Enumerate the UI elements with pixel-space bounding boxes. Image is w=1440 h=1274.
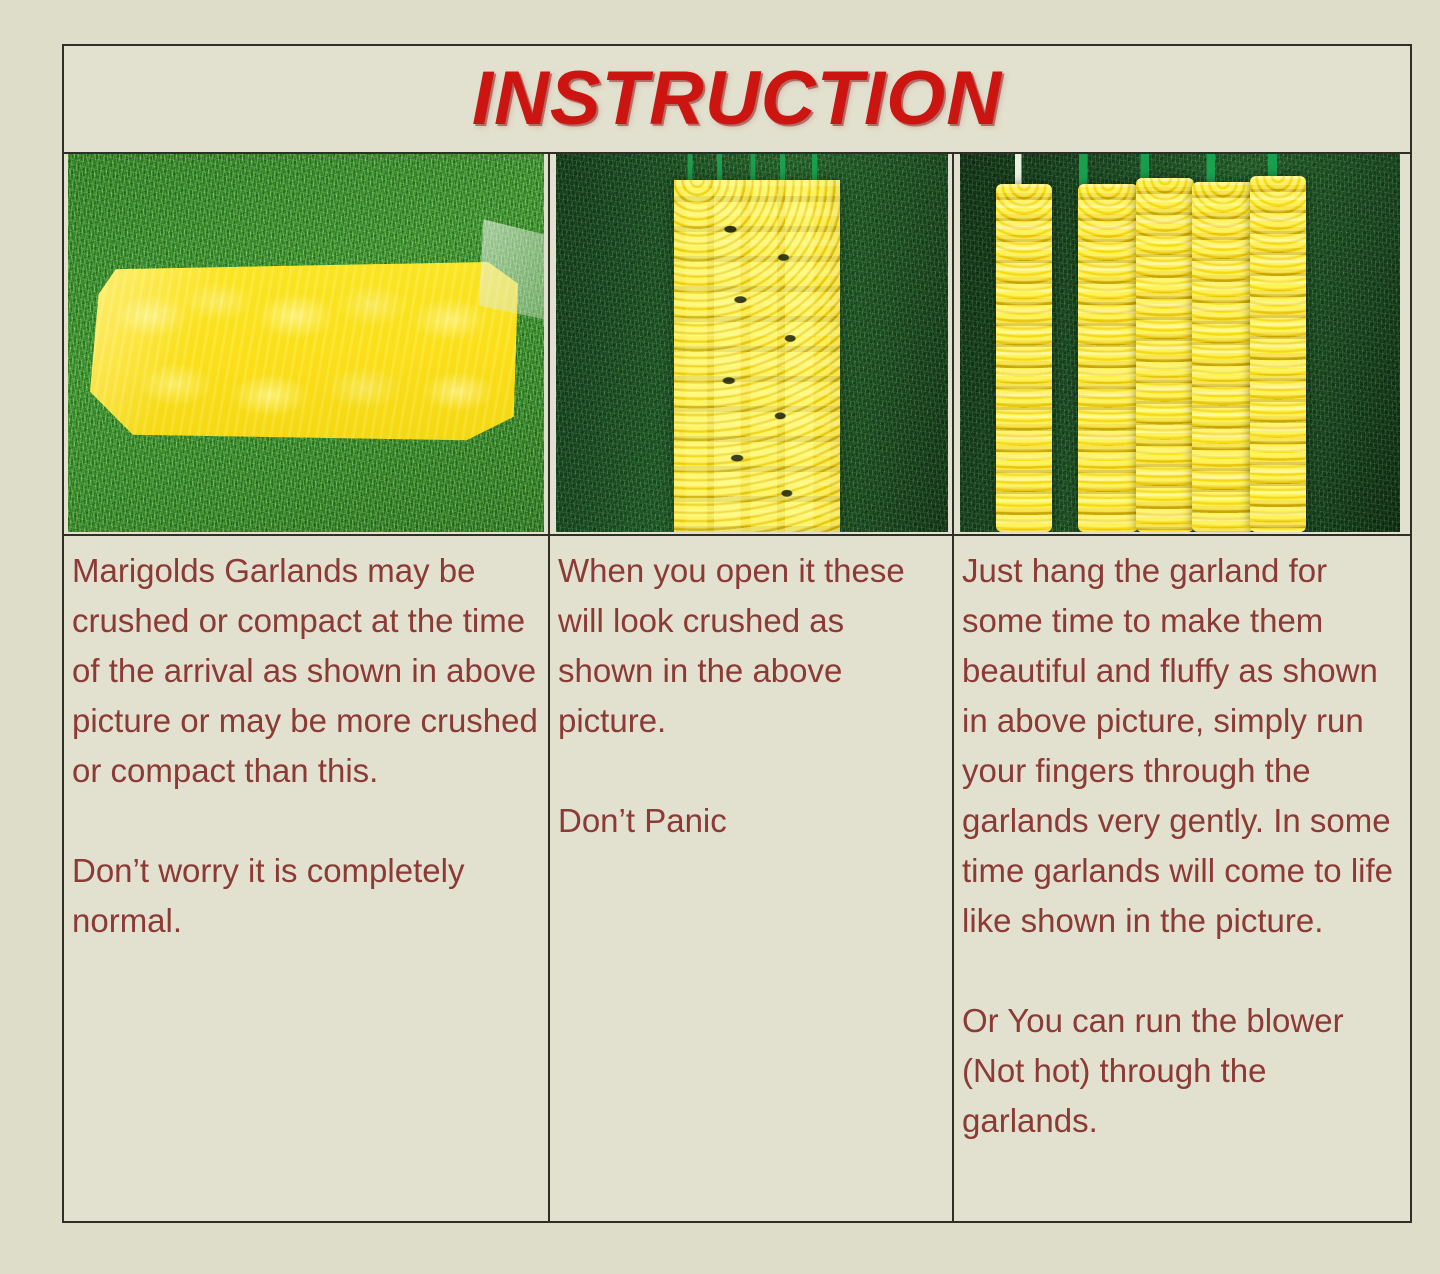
page-title: INSTRUCTION — [472, 61, 1002, 137]
instruction-alternative: Or You can run the blower (Not hot) thro… — [962, 996, 1402, 1146]
instruction-text-cell-2: When you open it these will look crushed… — [550, 536, 954, 1221]
garland-shadow-gaps — [674, 180, 840, 532]
garland-strand — [1078, 184, 1138, 532]
image-cell-1 — [64, 154, 550, 534]
packet-sheen — [90, 262, 518, 442]
instruction-reassurance: Don’t worry it is completely normal. — [72, 846, 542, 946]
instruction-sheet: INSTRUCTION — [62, 44, 1412, 1223]
garland-strand — [1250, 176, 1306, 532]
fluffy-separated-garlands-photo — [960, 154, 1400, 532]
instruction-reassurance: Don’t Panic — [558, 796, 946, 846]
crushed-garland-packet-photo — [68, 154, 544, 532]
plastic-packet — [90, 262, 518, 442]
text-row: Marigolds Garlands may be crushed or com… — [64, 536, 1410, 1221]
image-cell-2 — [550, 154, 954, 534]
garland-strand — [1136, 178, 1194, 532]
crushed-hanging-garlands-photo — [556, 154, 948, 532]
image-row — [64, 154, 1410, 536]
header-row: INSTRUCTION — [64, 46, 1410, 154]
instruction-paragraph: Just hang the garland for some time to m… — [962, 546, 1402, 946]
garland-bunch — [674, 180, 840, 532]
instruction-text-cell-1: Marigolds Garlands may be crushed or com… — [64, 536, 550, 1221]
garland-strand — [996, 184, 1052, 532]
instruction-paragraph: Marigolds Garlands may be crushed or com… — [72, 546, 542, 796]
image-cell-3 — [954, 154, 1408, 534]
instruction-paragraph: When you open it these will look crushed… — [558, 546, 946, 746]
garland-strand — [1192, 182, 1254, 532]
instruction-text-cell-3: Just hang the garland for some time to m… — [954, 536, 1408, 1221]
